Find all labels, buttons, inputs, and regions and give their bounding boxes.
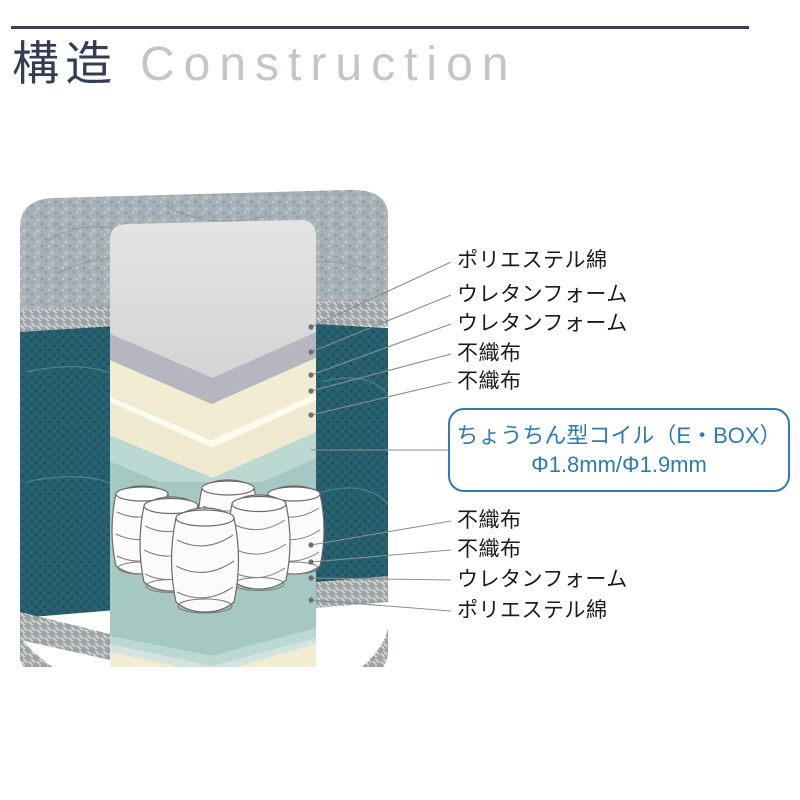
- coil-callout-box: ちょうちん型コイル（E・BOX） Φ1.8mm/Φ1.9mm: [448, 408, 790, 492]
- coil-callout-line1: ちょうちん型コイル（E・BOX）: [456, 423, 781, 448]
- label-urethane-bottom: ウレタンフォーム: [457, 569, 628, 590]
- label-nonwoven-top-1: 不織布: [457, 343, 522, 364]
- label-nonwoven-bottom-1: 不織布: [457, 510, 522, 531]
- side-fabric-right: [316, 324, 388, 586]
- label-nonwoven-top-2: 不織布: [457, 371, 522, 392]
- coil-callout-line2: Φ1.8mm/Φ1.9mm: [531, 452, 707, 477]
- coil-front-1: [172, 508, 239, 613]
- label-polyester-top: ポリエステル綿: [457, 250, 608, 271]
- page-title: 構造 Construction: [12, 40, 772, 110]
- page-title-en: Construction: [140, 41, 517, 89]
- label-polyester-bottom: ポリエステル綿: [457, 600, 608, 621]
- label-urethane-top-2: ウレタンフォーム: [457, 313, 628, 334]
- mattress-body: [20, 190, 388, 667]
- header-divider: [11, 26, 749, 29]
- mattress-cutaway-illustration: [16, 182, 392, 667]
- page-title-jp: 構造: [12, 40, 118, 87]
- label-nonwoven-bottom-2: 不織布: [457, 539, 522, 560]
- label-urethane-top-1: ウレタンフォーム: [457, 284, 628, 305]
- construction-page: 構造 Construction: [0, 0, 800, 800]
